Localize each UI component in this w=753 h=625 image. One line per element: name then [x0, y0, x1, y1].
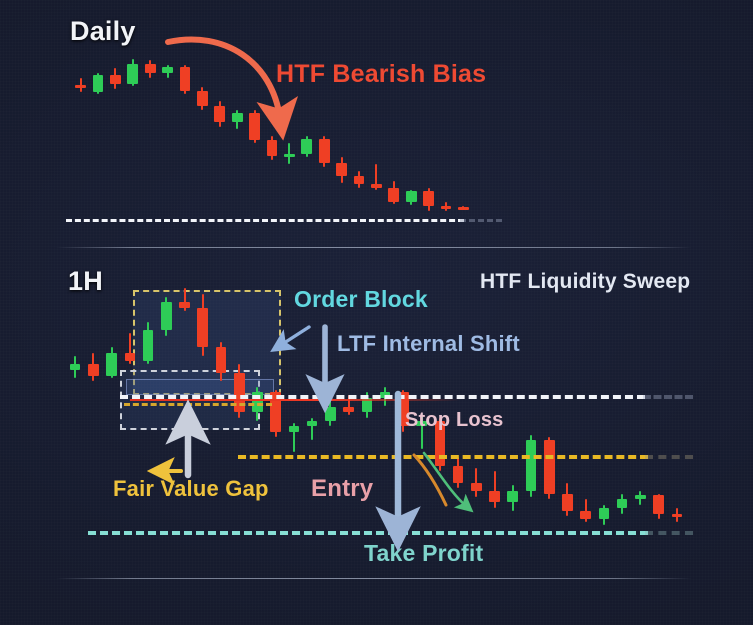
- candle: [441, 50, 452, 220]
- chart-canvas: Daily HTF Bearish Bias 1H Order Block: [0, 0, 753, 625]
- candle: [354, 50, 365, 220]
- candle: [580, 274, 591, 539]
- candle-body: [453, 466, 464, 483]
- liquidity-sweep-dashed-fade: [643, 395, 693, 399]
- candle: [110, 50, 121, 220]
- candle-body: [526, 440, 537, 491]
- candle-body: [197, 308, 208, 347]
- candle-body: [232, 113, 243, 122]
- candle: [267, 50, 278, 220]
- candle-body: [653, 495, 664, 513]
- candle-body: [371, 184, 382, 188]
- candle-body: [301, 139, 312, 154]
- candle: [406, 50, 417, 220]
- candle-body: [106, 353, 117, 376]
- candle: [453, 274, 464, 539]
- daily-timeframe-label: Daily: [70, 16, 136, 47]
- fvg-mid-line: [124, 403, 272, 406]
- candle-body: [562, 494, 573, 511]
- candle-body: [216, 347, 227, 372]
- stop-loss-label: Stop Loss: [405, 409, 503, 432]
- candle: [599, 274, 610, 539]
- candle-body: [197, 91, 208, 106]
- candle: [93, 50, 104, 220]
- candle-body: [423, 191, 434, 206]
- candle-body: [93, 75, 104, 91]
- candle: [145, 50, 156, 220]
- candle: [435, 274, 446, 539]
- daily-candle-series: [72, 50, 472, 220]
- candle: [617, 274, 628, 539]
- entry-line: [238, 455, 648, 459]
- candle: [672, 274, 683, 539]
- candle-body: [179, 302, 190, 308]
- candle-body: [267, 140, 278, 156]
- candle-body: [75, 85, 86, 89]
- htf-liquidity-sweep-label: HTF Liquidity Sweep: [480, 270, 690, 294]
- candle-body: [284, 154, 295, 157]
- fair-value-gap-label: Fair Value Gap: [113, 476, 269, 502]
- candle-body: [406, 191, 417, 202]
- candle-body: [162, 67, 173, 73]
- candle: [197, 50, 208, 220]
- candle-body: [127, 64, 138, 84]
- candle: [232, 50, 243, 220]
- candle: [471, 274, 482, 539]
- candle-body: [319, 139, 330, 164]
- candle: [416, 274, 427, 539]
- candle-body: [544, 440, 555, 494]
- candle: [388, 50, 399, 220]
- candle: [180, 50, 191, 220]
- daily-support-line: [66, 219, 464, 222]
- take-profit-label: Take Profit: [364, 540, 483, 567]
- candle: [653, 274, 664, 539]
- candle: [458, 50, 469, 220]
- candle: [249, 50, 260, 220]
- entry-line-fade: [645, 455, 693, 459]
- candle: [526, 274, 537, 539]
- candle: [214, 50, 225, 220]
- candle-body: [110, 75, 121, 83]
- candle-body: [234, 373, 245, 412]
- candle: [398, 274, 409, 539]
- candle-body: [161, 302, 172, 330]
- candle: [507, 274, 518, 539]
- liquidity-sweep-red-line: [130, 399, 460, 401]
- panel-separator-bottom: [56, 578, 692, 579]
- candle: [70, 274, 81, 539]
- candle: [301, 50, 312, 220]
- candle: [284, 50, 295, 220]
- candle: [75, 50, 86, 220]
- candle-body: [354, 176, 365, 184]
- hourly-panel: 1H Order Block HTF Liquidity Sweep LTF I…: [0, 248, 753, 578]
- candle: [319, 50, 330, 220]
- take-profit-line: [88, 531, 648, 535]
- candle: [380, 274, 391, 539]
- candle-body: [672, 514, 683, 517]
- candle-wick: [494, 471, 496, 508]
- candle: [423, 50, 434, 220]
- daily-support-line-fade: [460, 219, 502, 222]
- candle: [289, 274, 300, 539]
- candle-body: [125, 353, 136, 361]
- candle: [635, 274, 646, 539]
- candle-body: [307, 421, 318, 427]
- candle-body: [441, 206, 452, 209]
- candle-body: [143, 330, 154, 361]
- candle-body: [343, 407, 354, 413]
- candle-body: [289, 426, 300, 432]
- candle: [270, 274, 281, 539]
- candle-body: [489, 491, 500, 502]
- candle-body: [617, 499, 628, 507]
- candle-body: [249, 113, 260, 140]
- candle-body: [336, 163, 347, 176]
- candle-body: [580, 511, 591, 519]
- entry-label: Entry: [311, 475, 373, 503]
- candle-body: [388, 188, 399, 202]
- order-block-label: Order Block: [294, 286, 428, 313]
- candle: [127, 50, 138, 220]
- take-profit-line-fade: [645, 531, 693, 535]
- candle-body: [70, 364, 81, 370]
- candle: [88, 274, 99, 539]
- candle-body: [180, 67, 191, 90]
- candle-body: [88, 364, 99, 375]
- candle-body: [635, 495, 646, 499]
- candle: [371, 50, 382, 220]
- candle: [544, 274, 555, 539]
- candle-body: [458, 207, 469, 210]
- candle-body: [471, 483, 482, 491]
- candle: [489, 274, 500, 539]
- ltf-internal-shift-label: LTF Internal Shift: [337, 331, 520, 357]
- daily-panel: Daily HTF Bearish Bias: [0, 0, 753, 247]
- candle-body: [325, 407, 336, 421]
- candle-body: [507, 491, 518, 502]
- candle: [562, 274, 573, 539]
- candle: [162, 50, 173, 220]
- candle-body: [599, 508, 610, 519]
- candle-body: [145, 64, 156, 73]
- candle-body: [214, 106, 225, 122]
- candle: [336, 50, 347, 220]
